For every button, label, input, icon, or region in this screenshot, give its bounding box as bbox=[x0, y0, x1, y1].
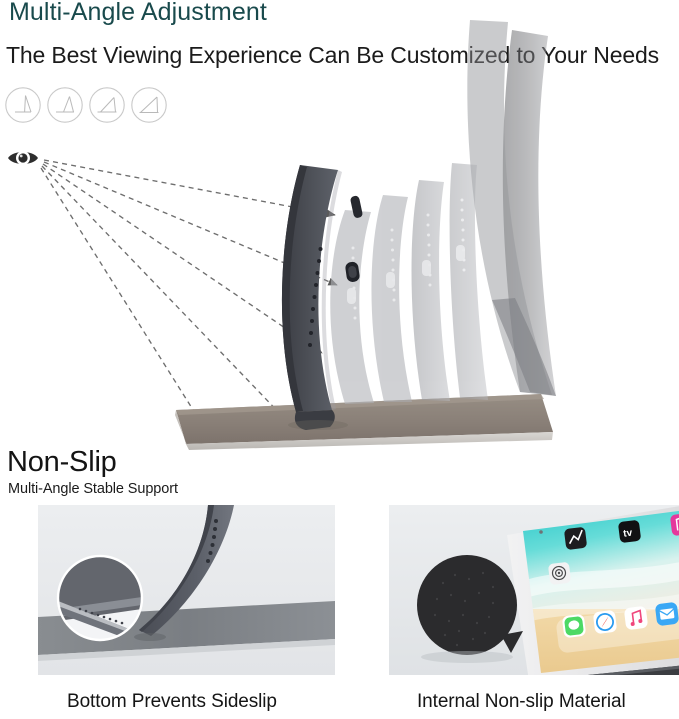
panel-material: tv bbox=[389, 505, 679, 675]
svg-text:tv: tv bbox=[623, 528, 634, 540]
tablet-stand-multi-angle-illustration bbox=[0, 0, 679, 455]
panel-sideslip bbox=[38, 505, 335, 675]
non-slip-subtitle: Multi-Angle Stable Support bbox=[8, 481, 178, 497]
mail-icon[interactable] bbox=[655, 602, 679, 627]
caption-sideslip: Bottom Prevents Sideslip bbox=[67, 691, 277, 713]
magnifier-circle-inset bbox=[58, 556, 142, 640]
sideslip-photo bbox=[38, 505, 335, 675]
non-slip-title: Non-Slip bbox=[7, 446, 117, 479]
caption-material: Internal Non-slip Material bbox=[417, 691, 626, 713]
tablet-device: tv bbox=[507, 505, 679, 675]
material-photo: tv bbox=[389, 505, 679, 675]
messages-icon[interactable] bbox=[562, 614, 587, 639]
apple-tv-icon[interactable]: tv bbox=[618, 520, 641, 543]
podcasts-icon[interactable] bbox=[548, 562, 571, 585]
safari-icon[interactable] bbox=[593, 610, 618, 635]
music-icon[interactable] bbox=[624, 606, 649, 631]
stocks-icon[interactable] bbox=[564, 527, 587, 550]
